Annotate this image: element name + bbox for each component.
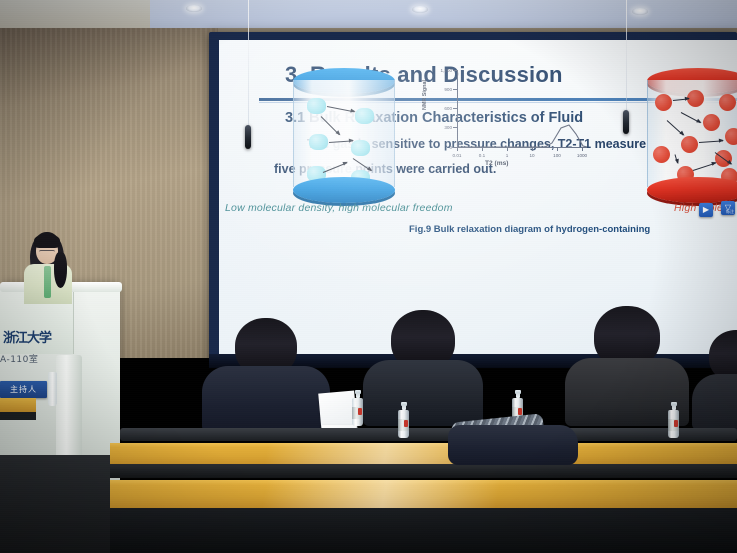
host-name-card: 主持人: [0, 381, 47, 398]
annotate-button-label: 标注: [726, 209, 734, 215]
audience-torso: [202, 366, 330, 432]
ceiling-left-panel: [0, 0, 150, 30]
cylinder-bottom-cap-red: [647, 177, 737, 203]
molecule: [355, 108, 374, 124]
host-name-card-label: 主持人: [0, 381, 47, 398]
audience-member: [572, 306, 682, 422]
annotate-button[interactable]: ▽ 标注: [721, 201, 735, 215]
molecule: [681, 136, 698, 153]
speaker-hair-right: [54, 252, 67, 288]
speaker-fringe: [34, 234, 60, 248]
molecule: [653, 146, 670, 163]
low-density-cylinder: [293, 68, 395, 203]
high-density-cylinder: [647, 68, 737, 203]
desk-highlight: [108, 480, 737, 508]
audience-member: [702, 330, 737, 426]
room-code-label: A-110室: [0, 352, 38, 365]
desk-highlight: [110, 443, 737, 465]
floor-front-edge: [0, 508, 737, 553]
molecule: [719, 94, 736, 111]
nmr-relaxation-chart: NMR Signal 1,200 900 600 300 0 0.: [427, 68, 589, 168]
cylinder-bottom-cap-blue: [293, 177, 395, 203]
bottle-label-accent: [358, 408, 362, 415]
molecule: [351, 140, 370, 156]
draped-coat: [448, 425, 578, 465]
slide-caption-left: Low molecular density, high molecular fr…: [225, 202, 445, 214]
bottle-label-accent: [674, 420, 678, 427]
bottle-label-accent: [518, 408, 522, 415]
desk-row-2: [108, 480, 737, 508]
bench-seat-back: [120, 428, 737, 441]
chart-x-tick-label: 0.01: [453, 153, 462, 158]
floor-step: [0, 468, 737, 478]
audience-member: [206, 318, 326, 428]
molecule: [309, 134, 328, 150]
slide-figure-caption: Fig.9 Bulk relaxation diagram of hydroge…: [409, 224, 650, 235]
chart-x-tick-label: 10: [529, 153, 534, 158]
chart-data-curve: [457, 70, 587, 148]
foreground-chair: [0, 455, 110, 553]
side-desk-edge: [0, 412, 36, 420]
bottle-label-accent: [404, 420, 408, 427]
speaker-glasses: [39, 250, 55, 255]
lecture-hall-photo: 3. Results and Discussion 3.1 Bulk Relax…: [0, 0, 737, 553]
chart-x-tick-label: 1000: [577, 153, 587, 158]
ceiling-downlight: [412, 6, 428, 13]
ceiling-downlight: [632, 8, 648, 15]
play-icon: ▶: [699, 203, 713, 217]
chart-y-tick-label: 300: [426, 125, 452, 130]
chart-x-tick-label: 0.1: [479, 153, 485, 158]
molecule: [703, 114, 720, 131]
chart-x-tick-label: 100: [553, 153, 561, 158]
microphone-cable: [248, 0, 249, 128]
chart-x-tick-label: 1: [506, 153, 509, 158]
desk-row-1: [110, 443, 737, 465]
molecule: [725, 128, 737, 145]
chart-y-tick-label: 600: [426, 106, 452, 111]
side-desk: [0, 398, 36, 412]
audience-member: [368, 310, 478, 422]
ceiling-downlight: [186, 5, 202, 12]
university-logo: 浙江大学: [3, 327, 51, 346]
chart-x-axis-title: T2 (ms): [485, 160, 508, 167]
play-button[interactable]: ▶: [699, 203, 713, 217]
podium-water-bottle: [48, 372, 57, 406]
podium-column: [56, 355, 82, 470]
audience-torso: [692, 374, 737, 430]
chart-y-tick-label: 1,200: [426, 68, 452, 73]
chart-y-tick-label: 900: [426, 87, 452, 92]
microphone-cable: [626, 0, 627, 112]
audience-torso: [363, 360, 483, 426]
hanging-microphone: [623, 110, 629, 134]
molecule: [307, 98, 326, 114]
molecule: [655, 94, 672, 111]
chart-y-tick-label: 0: [426, 145, 452, 150]
hanging-microphone: [245, 125, 251, 149]
speaker-jacket-stripe: [44, 266, 51, 298]
